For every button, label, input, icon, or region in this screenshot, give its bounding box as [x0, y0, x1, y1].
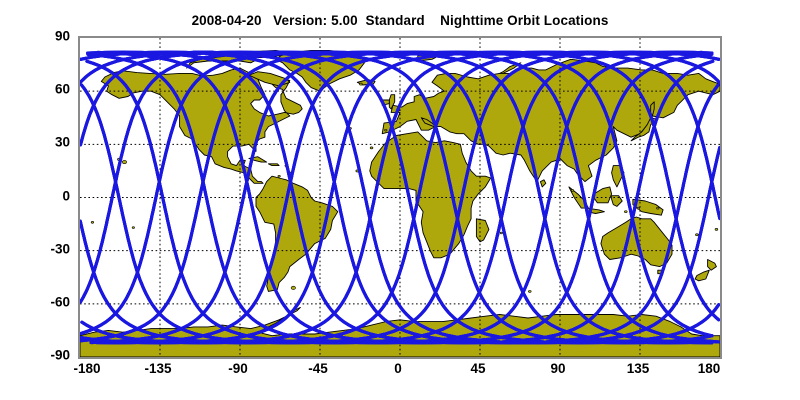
island-speck — [528, 290, 531, 292]
island-speck — [656, 207, 659, 209]
y-tick-label: -30 — [28, 241, 70, 256]
island-speck — [624, 211, 627, 213]
x-tick-label: -90 — [228, 361, 248, 376]
x-tick-label: -135 — [144, 361, 171, 376]
island-speck — [278, 175, 280, 177]
island-speck — [500, 232, 502, 234]
y-tick-label: 30 — [28, 135, 70, 150]
x-axis-labels: -180-135-90-4504590135180 — [78, 361, 718, 381]
plot-area — [78, 36, 722, 359]
orbit-track — [675, 52, 712, 53]
y-tick-label: -60 — [28, 294, 70, 309]
island-speck — [571, 189, 574, 191]
x-tick-label: 135 — [627, 361, 650, 376]
x-tick-label: 180 — [698, 361, 721, 376]
y-tick-label: -90 — [28, 348, 70, 363]
y-tick-label: 90 — [28, 29, 70, 44]
x-tick-label: 45 — [470, 361, 485, 376]
y-axis-labels: 9060300-30-60-90 — [24, 36, 70, 355]
world-map-svg — [80, 38, 720, 357]
y-tick-label: 0 — [28, 188, 70, 203]
x-tick-label: 0 — [394, 361, 402, 376]
island-speck — [359, 83, 362, 85]
y-tick-label: 60 — [28, 82, 70, 97]
island-speck — [291, 286, 295, 289]
island-speck — [385, 129, 387, 131]
island-speck — [695, 234, 698, 236]
orbit-map-figure: 2008-04-20 Version: 5.00 Standard Nightt… — [0, 0, 800, 400]
x-tick-label: 90 — [550, 361, 565, 376]
island-speck — [132, 227, 134, 229]
island-speck — [122, 160, 126, 163]
island-speck — [637, 207, 640, 209]
island-speck — [715, 228, 718, 230]
x-tick-label: -180 — [73, 361, 100, 376]
island-speck — [370, 147, 373, 149]
x-tick-label: -45 — [308, 361, 328, 376]
page-title: 2008-04-20 Version: 5.00 Standard Nightt… — [0, 13, 800, 28]
island-speck — [91, 221, 94, 223]
